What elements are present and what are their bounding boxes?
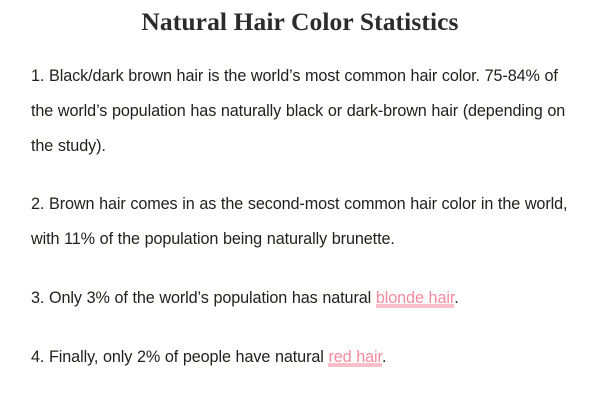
- red-hair-link[interactable]: red hair: [328, 348, 382, 367]
- statistic-paragraph-1: 1. Black/dark brown hair is the world’s …: [31, 59, 570, 164]
- statistic-paragraph-4: 4. Finally, only 2% of people have natur…: [31, 340, 570, 375]
- paragraph-3-tail-text: .: [454, 289, 458, 307]
- blonde-hair-link[interactable]: blonde hair: [376, 289, 454, 308]
- paragraph-4-lead-text: 4. Finally, only 2% of people have natur…: [31, 348, 328, 366]
- statistic-paragraph-2: 2. Brown hair comes in as the second-mos…: [31, 187, 570, 257]
- article-body: 1. Black/dark brown hair is the world’s …: [0, 59, 600, 375]
- paragraph-4-tail-text: .: [382, 348, 386, 366]
- paragraph-3-lead-text: 3. Only 3% of the world’s population has…: [31, 289, 376, 307]
- statistic-paragraph-3: 3. Only 3% of the world’s population has…: [31, 281, 570, 316]
- page-title: Natural Hair Color Statistics: [0, 0, 600, 38]
- article-container: Natural Hair Color Statistics 1. Black/d…: [0, 0, 600, 404]
